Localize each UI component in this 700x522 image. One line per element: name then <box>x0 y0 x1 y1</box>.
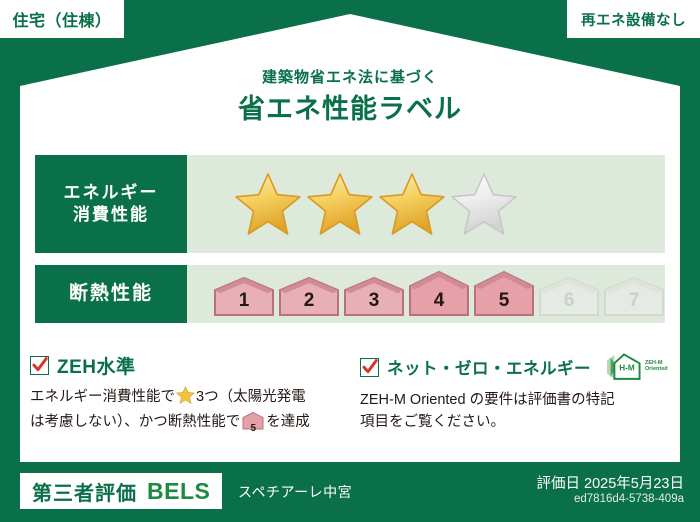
star-rating <box>187 172 517 236</box>
zeh-standard-heading: ZEH水準 <box>30 352 350 379</box>
zeh-desc-part2: は考慮しない）、かつ断熱性能で <box>30 414 240 430</box>
check-icon <box>360 358 379 377</box>
insulation-level-number: 1 <box>213 290 275 312</box>
star-glyph <box>235 172 301 236</box>
energy-label-line1: エネルギー <box>64 182 159 204</box>
evaluation-date: 評価日 2025年5月23日 <box>537 472 684 493</box>
zeh-m-house-logo-glyph: H-M <box>604 352 644 382</box>
third-party-eval-label: 第三者評価 <box>32 477 137 506</box>
insulation-level-on: 1 <box>213 277 275 317</box>
insulation-level-number: 7 <box>603 290 665 312</box>
zeh-standard-description: エネルギー消費性能で 3つ（太陽光発電 は考慮しない）、かつ断熱性能で 5 を達… <box>30 386 350 438</box>
energy-label-card: 住宅（住棟） 再エネ設備なし 建築物省エネ法に基づく 省エネ性能ラベル ハウスネ… <box>0 0 700 522</box>
star-filled <box>379 172 445 236</box>
insulation-level-number: 3 <box>343 290 405 312</box>
evaluation-id: ed7816d4-5738-409a <box>574 493 684 505</box>
building-name: スペチアーレ中宮 <box>238 482 352 502</box>
svg-text:H-M: H-M <box>619 364 635 373</box>
insulation-level-number: 2 <box>278 290 340 312</box>
inline-house-badge: 5 <box>242 412 264 437</box>
insulation-level-off: 7 <box>603 277 665 317</box>
star-glyph <box>307 172 373 236</box>
insulation-level-on: 5 <box>473 271 535 317</box>
check-mark-glyph <box>362 359 378 376</box>
net-zero-title: ネット・ゼロ・エネルギー <box>387 355 591 379</box>
label-title: 省エネ性能ラベル <box>0 87 700 126</box>
zeh-standard-block: ZEH水準 エネルギー消費性能で 3つ（太陽光発電 は考慮しない）、かつ断熱性能… <box>30 352 350 438</box>
insulation-performance-row: 断熱性能 1234567 <box>35 265 665 323</box>
star-empty <box>451 172 517 236</box>
check-icon <box>30 356 49 375</box>
insulation-level-on: 2 <box>278 277 340 317</box>
energy-performance-value <box>187 155 665 253</box>
bels-logo-text: BELS <box>147 478 210 505</box>
check-mark-glyph <box>32 357 48 374</box>
zeh-standard-title: ZEH水準 <box>57 352 136 379</box>
insulation-level-off: 6 <box>538 277 600 317</box>
energy-performance-label: エネルギー 消費性能 <box>35 155 187 253</box>
footer-bar: 第三者評価 BELS スペチアーレ中宮 評価日 2025年5月23日 ed781… <box>0 462 700 522</box>
insulation-level-on: 4 <box>408 271 470 317</box>
insulation-performance-value: 1234567 <box>187 265 665 323</box>
insulation-level-number: 6 <box>538 290 600 312</box>
insulation-performance-label: 断熱性能 <box>35 265 187 323</box>
label-subtitle: 建築物省エネ法に基づく <box>0 66 700 87</box>
energy-performance-row: エネルギー 消費性能 <box>35 155 665 253</box>
net-zero-desc-line2: 項目をご覧ください。 <box>360 414 505 430</box>
insulation-level-number: 4 <box>408 290 470 312</box>
insulation-level-scale: 1234567 <box>187 271 665 317</box>
energy-label-line2: 消費性能 <box>73 204 149 226</box>
zeh-desc-part1: エネルギー消費性能で <box>30 389 175 405</box>
net-zero-desc-line1: ZEH-M Oriented の要件は評価書の特記 <box>360 392 615 408</box>
star-glyph <box>379 172 445 236</box>
zeh-m-oriented-logo: H-M ZEH-M Oriented <box>604 352 668 382</box>
star-glyph <box>451 172 517 236</box>
star-filled <box>307 172 373 236</box>
building-type-tag: 住宅（住棟） <box>0 0 124 38</box>
star-filled <box>235 172 301 236</box>
inline-house-number: 5 <box>242 421 264 437</box>
net-zero-heading: ネット・ゼロ・エネルギー H-M ZEH-M Oriented <box>360 352 690 382</box>
net-zero-description: ZEH-M Oriented の要件は評価書の特記 項目をご覧ください。 <box>360 389 690 434</box>
zeh-desc-part3: を達成 <box>266 414 310 430</box>
inline-star-glyph <box>176 386 195 404</box>
insulation-level-number: 5 <box>473 290 535 312</box>
net-zero-energy-block: ネット・ゼロ・エネルギー H-M ZEH-M Oriented ZEH-M Or… <box>360 352 690 434</box>
zeh-desc-stars: 3つ（太陽光発電 <box>196 389 306 405</box>
inline-star-icon <box>176 386 195 411</box>
zeh-m-logo-line2: Oriented <box>645 367 668 373</box>
bels-badge: 第三者評価 BELS <box>20 473 222 509</box>
insulation-level-on: 3 <box>343 277 405 317</box>
renewable-equipment-tag: 再エネ設備なし <box>567 0 700 38</box>
